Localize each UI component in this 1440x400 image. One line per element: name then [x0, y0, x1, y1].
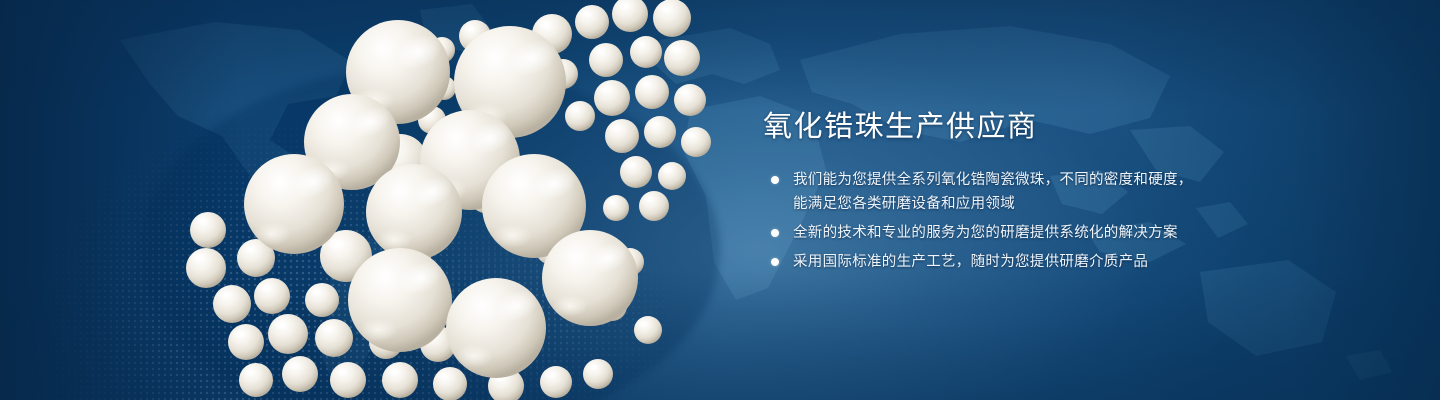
list-item: 采用国际标准的生产工艺，随时为您提供研磨介质产品 — [763, 250, 1283, 274]
halftone-dot-texture — [0, 0, 760, 400]
bullet-dot-icon — [771, 229, 779, 237]
banner-text-block: 氧化锆珠生产供应商 我们能为您提供全系列氧化锆陶瓷微珠，不同的密度和硬度， 能满… — [763, 108, 1283, 279]
halftone-dot-texture-secondary — [420, 190, 760, 400]
feature-list: 我们能为您提供全系列氧化锆陶瓷微珠，不同的密度和硬度， 能满足您各类研磨设备和应… — [763, 168, 1283, 274]
page-title: 氧化锆珠生产供应商 — [763, 108, 1283, 146]
bullet-dot-icon — [771, 258, 779, 266]
list-item: 我们能为您提供全系列氧化锆陶瓷微珠，不同的密度和硬度， 能满足您各类研磨设备和应… — [763, 168, 1283, 216]
feature-text-line1: 采用国际标准的生产工艺，随时为您提供研磨介质产品 — [793, 254, 1148, 270]
bullet-dot-icon — [771, 176, 779, 184]
feature-text-line1: 全新的技术和专业的服务为您的研磨提供系统化的解决方案 — [793, 225, 1178, 241]
feature-text-line2: 能满足您各类研磨设备和应用领域 — [793, 192, 1283, 216]
hero-banner: 氧化锆珠生产供应商 我们能为您提供全系列氧化锆陶瓷微珠，不同的密度和硬度， 能满… — [0, 0, 1440, 400]
list-item: 全新的技术和专业的服务为您的研磨提供系统化的解决方案 — [763, 221, 1283, 245]
feature-text-line1: 我们能为您提供全系列氧化锆陶瓷微珠，不同的密度和硬度， — [793, 172, 1193, 188]
